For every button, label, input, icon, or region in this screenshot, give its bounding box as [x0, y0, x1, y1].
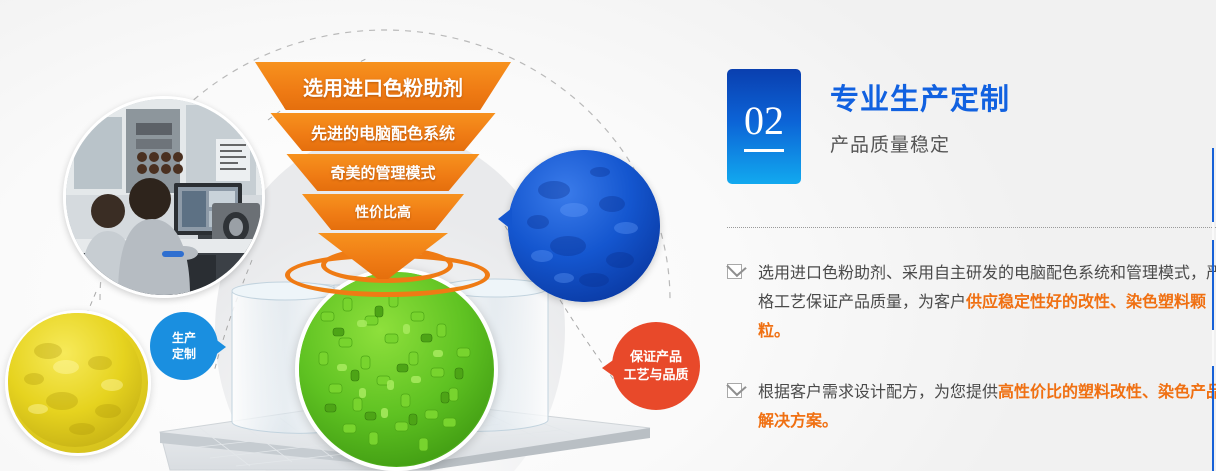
badge-blue-line2: 定制: [172, 346, 196, 362]
green-pellets-circle: [295, 268, 498, 471]
divider: [727, 227, 1216, 228]
funnel-layer-2: 先进的电脑配色系统: [271, 113, 496, 151]
check-icon: [727, 264, 742, 279]
content-column: 02 专业生产定制 产品质量稳定 选用进口色粉助剂、采用自主研发的电脑配色系统和…: [717, 0, 1216, 471]
lab-photo: [63, 96, 265, 298]
funnel-layer-4-label: 性价比高: [355, 202, 411, 222]
blue-pigment-circle: [508, 150, 660, 302]
lab-photo-content: [66, 99, 262, 295]
badge-production-custom: 生产 定制: [150, 312, 218, 380]
right-edge-rule: [1212, 148, 1214, 471]
list-item: 选用进口色粉助剂、采用自主研发的电脑配色系统和管理模式，严格工艺保证产品质量，为…: [727, 259, 1216, 346]
process-funnel: 选用进口色粉助剂 先进的电脑配色系统 奇美的管理模式 性价比高: [252, 62, 514, 277]
funnel-layer-4: 性价比高: [302, 194, 464, 230]
badge-orange-line2: 工艺与品质: [623, 366, 688, 384]
funnel-layer-3-label: 奇美的管理模式: [330, 162, 435, 183]
list-item: 根据客户需求设计配方，为您提供高性价比的塑料改性、染色产品解决方案。: [727, 378, 1216, 436]
funnel-layer-1-label: 选用进口色粉助剂: [303, 72, 463, 101]
funnel-layer-1: 选用进口色粉助剂: [255, 62, 511, 110]
section-number: 02: [744, 101, 784, 152]
bullet-1-text: 选用进口色粉助剂、采用自主研发的电脑配色系统和管理模式，严格工艺保证产品质量，为…: [758, 259, 1216, 346]
section-number-badge: 02: [727, 69, 801, 184]
product-illustration: 选用进口色粉助剂 先进的电脑配色系统 奇美的管理模式 性价比高 生产 定制 保证…: [0, 0, 700, 471]
funnel-layer-3: 奇美的管理模式: [287, 154, 480, 191]
yellow-pigment-circle: [5, 310, 151, 456]
badge-quality-guarantee: 保证产品 工艺与品质: [612, 322, 700, 410]
funnel-spout: [318, 233, 448, 279]
promo-banner: 选用进口色粉助剂 先进的电脑配色系统 奇美的管理模式 性价比高 生产 定制 保证…: [0, 0, 1216, 471]
right-edge-rule-gap: [1212, 330, 1214, 366]
badge-orange-line1: 保证产品: [630, 348, 682, 366]
right-edge-rule-gap: [1212, 222, 1214, 240]
bullet-2-text: 根据客户需求设计配方，为您提供高性价比的塑料改性、染色产品解决方案。: [758, 378, 1216, 436]
page-subtitle: 产品质量稳定: [830, 130, 1010, 157]
badge-blue-line1: 生产: [172, 330, 196, 346]
check-icon: [727, 383, 742, 398]
bullet-2-part-1: 根据客户需求设计配方，为您提供: [758, 384, 998, 401]
funnel-layer-2-label: 先进的电脑配色系统: [311, 120, 455, 144]
page-title: 专业生产定制: [830, 76, 1010, 118]
section-heading: 专业生产定制 产品质量稳定: [830, 76, 1010, 157]
